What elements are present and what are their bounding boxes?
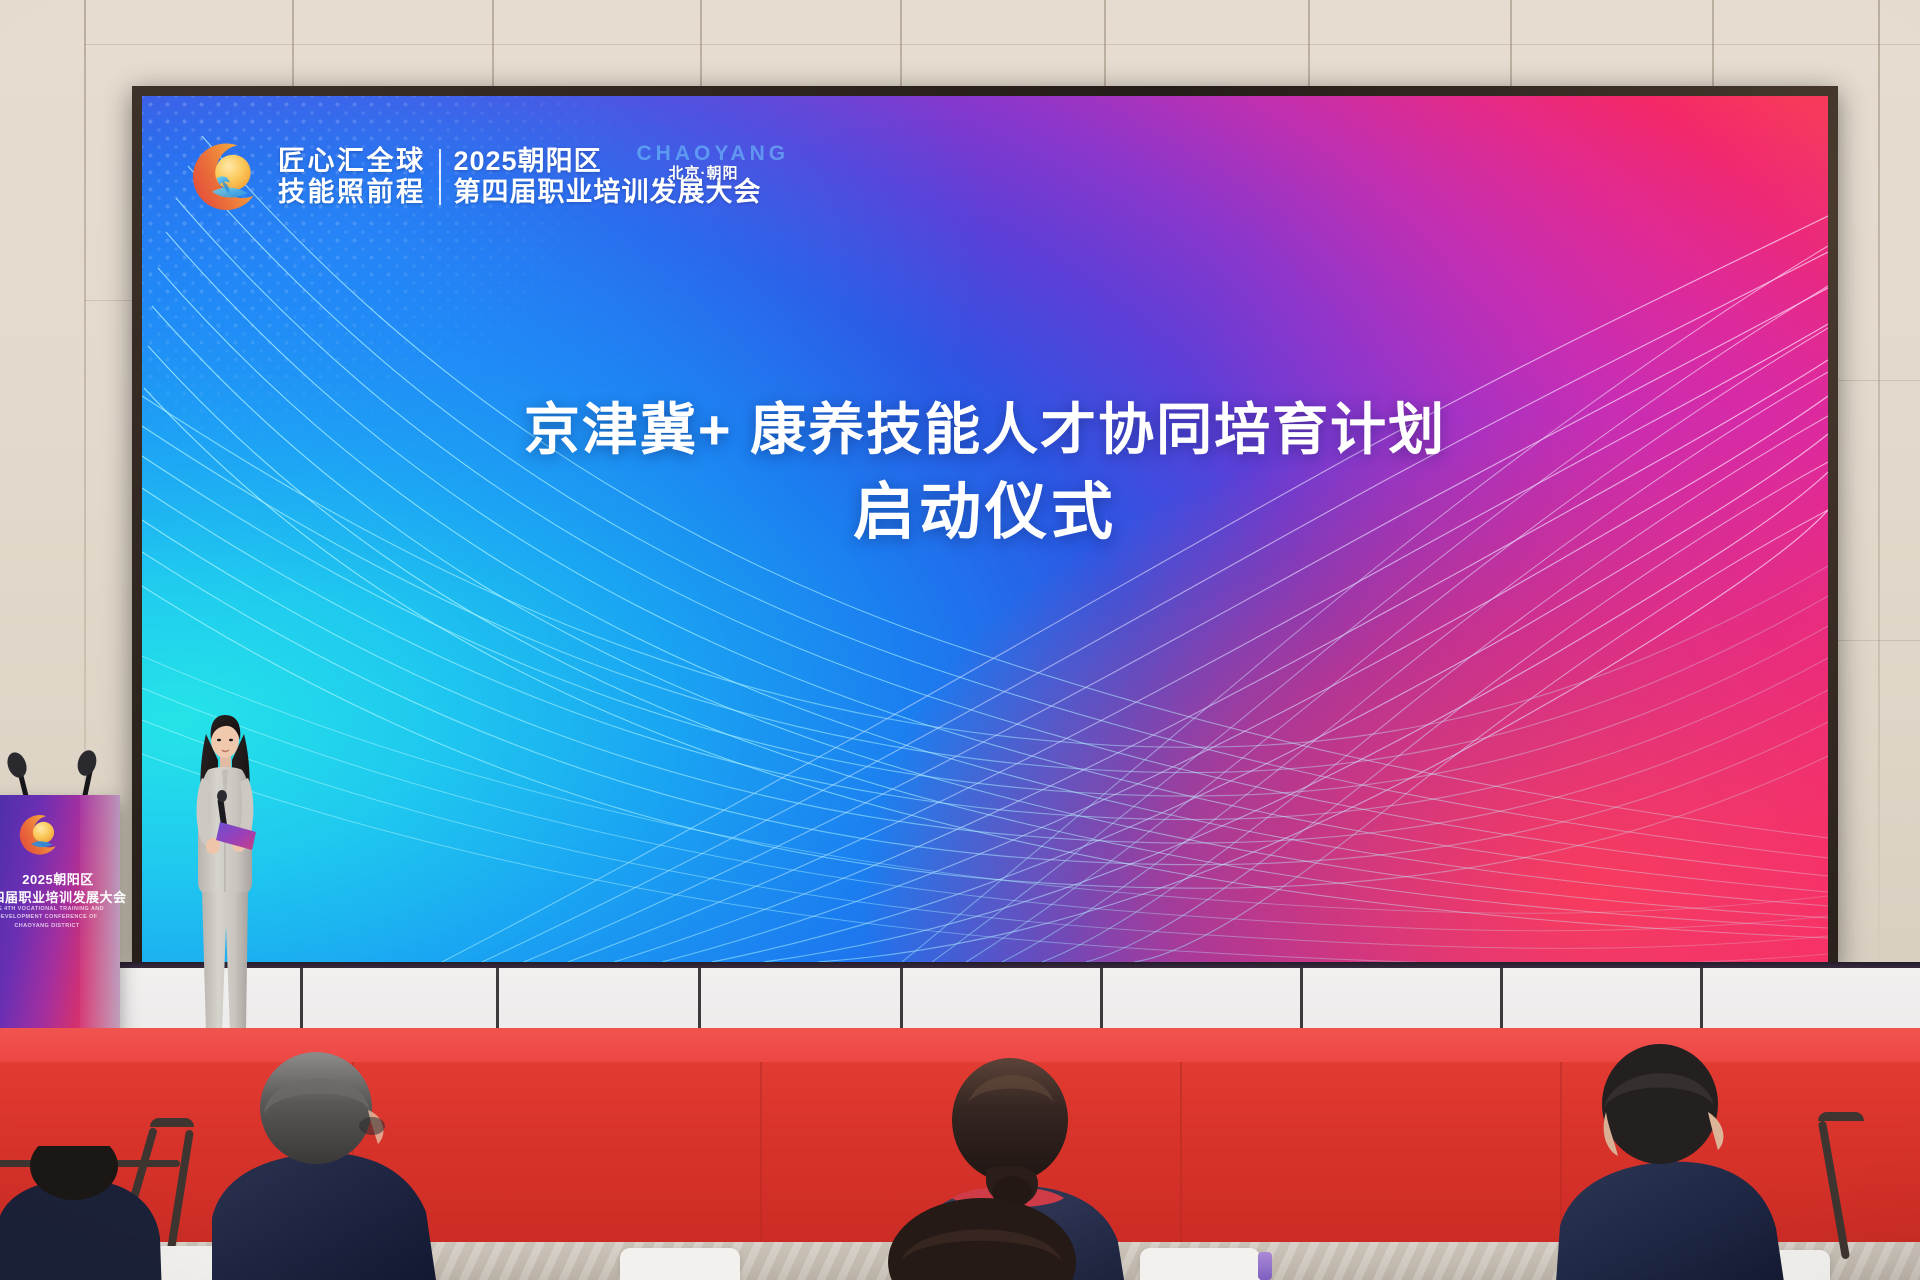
- led-screen-frame: 匠心汇全球 技能照前程 2025朝阳区 第四届职业培训发展大会 CHAOYANG…: [132, 86, 1838, 970]
- event-logo-lockup: 匠心汇全球 技能照前程 2025朝阳区 第四届职业培训发展大会 CHAOYANG…: [190, 140, 762, 214]
- water-bottle: [1258, 1252, 1272, 1280]
- audience-member-bottom-center: [872, 1190, 1092, 1280]
- slide-title-line1: 京津冀+ 康养技能人才协同培育计划: [142, 396, 1828, 464]
- lectern-title-line1: 2025朝阳区: [0, 869, 118, 888]
- audience-member-left: [212, 1050, 512, 1280]
- audience-member-far-left: [0, 1146, 180, 1280]
- audience-member-right: [1556, 1042, 1856, 1280]
- stage-step-railing-cap: [150, 1118, 194, 1127]
- logo-slogan-line1: 匠心汇全球: [278, 146, 426, 177]
- lectern-title-line2: 第四届职业培训发展大会: [0, 887, 114, 906]
- slide-title-line2: 启动仪式: [142, 474, 1828, 552]
- event-host: [178, 700, 274, 1036]
- chaoyang-crescent-logo-icon: [190, 140, 264, 214]
- city-label: 北京·朝阳: [669, 162, 739, 183]
- slide-title-block: 京津冀+ 康养技能人才协同培育计划 启动仪式: [142, 396, 1828, 552]
- logo-slogan-line2: 技能照前程: [278, 177, 426, 208]
- lectern-panel: 2025朝阳区 第四届职业培训发展大会 THE 4TH VOCATIONAL T…: [0, 795, 120, 1045]
- conference-stage-photo: 匠心汇全球 技能照前程 2025朝阳区 第四届职业培训发展大会 CHAOYANG…: [0, 0, 1920, 1280]
- lectern-logo-icon: [18, 813, 62, 857]
- audience-chair-2: [620, 1248, 740, 1280]
- led-screen: 匠心汇全球 技能照前程 2025朝阳区 第四届职业培训发展大会 CHAOYANG…: [142, 96, 1828, 962]
- lectern-title-english: THE 4TH VOCATIONAL TRAINING AND DEVELOPM…: [0, 905, 112, 930]
